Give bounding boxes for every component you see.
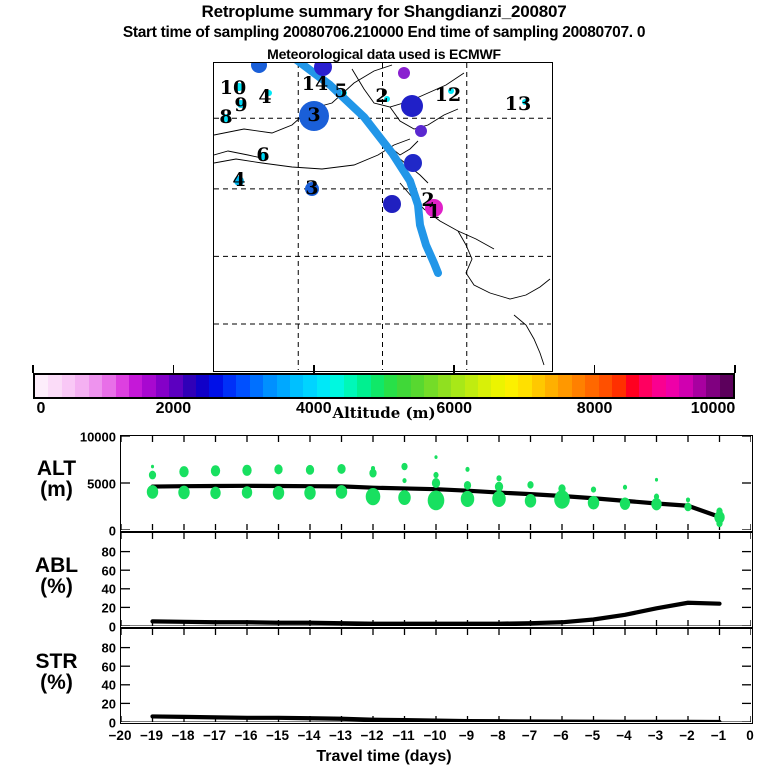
x-tick-label: −11	[392, 728, 414, 743]
x-tick-label: −9	[459, 728, 474, 743]
colorbar-block-36	[518, 375, 531, 397]
colorbar-block-17	[263, 375, 276, 397]
y-tick-label: 60	[102, 659, 116, 674]
colorbar-block-50	[706, 375, 719, 397]
colorbar-block-31	[451, 375, 464, 397]
y-tick-label: 5000	[87, 476, 116, 491]
alt-bubble-31	[527, 481, 533, 488]
alt-bubble-3	[179, 466, 188, 477]
alt-bubble-22	[433, 472, 438, 478]
colorbar-block-28	[411, 375, 424, 397]
alt-bubble-13	[337, 464, 345, 474]
colorbar-block-26	[384, 375, 397, 397]
colorbar-block-25	[371, 375, 384, 397]
x-axis-title: Travel time (days)	[0, 748, 768, 766]
alt-bubble-11	[306, 465, 314, 475]
alt-bubble-27	[461, 491, 475, 507]
y-tick-label: 60	[102, 563, 116, 578]
alt-bubble-6	[210, 487, 220, 499]
colorbar-block-3	[75, 375, 88, 397]
alt-bubble-8	[242, 486, 252, 498]
colorbar-block-13	[209, 375, 222, 397]
colorbar-block-30	[438, 375, 451, 397]
colorbar-block-6	[116, 375, 129, 397]
alt-bubble-23	[432, 478, 440, 488]
map-day-label-4: 6	[256, 144, 269, 166]
y-tick-label: 40	[102, 678, 116, 693]
alt-bubble-38	[620, 497, 630, 509]
x-tick-label: 0	[746, 728, 754, 743]
colorbar-block-22	[330, 375, 343, 397]
x-tick-label: −16	[235, 728, 258, 743]
colorbar-block-45	[639, 375, 652, 397]
page-title: Retroplume summary for Shangdianzi_20080…	[0, 2, 768, 22]
map-marker-4	[401, 95, 423, 117]
colorbar-block-46	[652, 375, 665, 397]
retroplume-map: 1049864331452121321	[213, 62, 553, 372]
colorbar-block-29	[424, 375, 437, 397]
alt-bubble-30	[492, 491, 506, 507]
x-tick-label: −13	[329, 728, 352, 743]
y-tick-label: 20	[102, 696, 116, 711]
alt-bubble-21	[434, 455, 437, 459]
colorbar-tick	[594, 365, 596, 373]
colorbar-block-44	[626, 375, 639, 397]
x-tick-label: −6	[553, 728, 568, 743]
map-day-label-1: 4	[258, 86, 271, 108]
colorbar-block-2	[62, 375, 75, 397]
alt-bubble-20	[398, 490, 410, 505]
x-tick-label: −17	[203, 728, 226, 743]
map-day-label-11: 12	[435, 84, 461, 106]
colorbar-title: Altitude (m)	[0, 404, 768, 422]
colorbar-block-51	[720, 375, 733, 397]
colorbar-block-20	[303, 375, 316, 397]
colorbar-tick	[32, 365, 34, 373]
y-tick-label: 80	[102, 641, 116, 656]
x-tick-label: −10	[424, 728, 447, 743]
alt-bubble-36	[588, 496, 599, 510]
colorbar-block-49	[693, 375, 706, 397]
x-tick-label: −15	[266, 728, 289, 743]
alt-bubble-9	[274, 464, 282, 474]
colorbar-block-4	[89, 375, 102, 397]
alt-bubble-42	[686, 497, 690, 502]
alt-bubble-14	[336, 485, 347, 499]
map-day-label-5: 4	[232, 169, 245, 191]
map-day-label-12: 13	[505, 93, 531, 115]
alt-bubble-35	[591, 486, 596, 492]
y-tick-label: 10000	[80, 429, 116, 444]
alt-bubble-19	[402, 478, 406, 483]
alt-bubble-12	[304, 486, 315, 500]
colorbar-block-18	[277, 375, 290, 397]
alt-bubble-5	[211, 465, 220, 476]
colorbar-ticks	[33, 365, 735, 373]
colorbar-block-38	[545, 375, 558, 397]
colorbar-block-48	[679, 375, 692, 397]
colorbar-block-14	[223, 375, 236, 397]
colorbar-block-37	[532, 375, 545, 397]
str-axis-label: STR (%)	[4, 651, 109, 693]
colorbar-block-40	[572, 375, 585, 397]
colorbar-block-16	[250, 375, 263, 397]
map-day-label-9: 5	[334, 80, 347, 102]
x-tick-label: −18	[172, 728, 195, 743]
str-plot-content	[121, 629, 751, 722]
str-plot-panel	[120, 628, 753, 724]
x-tick-label: −8	[490, 728, 505, 743]
y-tick-label: 0	[109, 523, 116, 538]
map-day-label-14: 1	[427, 201, 440, 223]
alt-bubble-1	[149, 471, 156, 480]
alt-plot-panel	[120, 435, 753, 532]
colorbar-block-21	[317, 375, 330, 397]
abl-axis-label: ABL (%)	[4, 555, 109, 597]
map-coastline	[458, 231, 490, 293]
colorbar-tick	[453, 365, 455, 373]
colorbar-block-10	[169, 375, 182, 397]
alt-bubble-46	[716, 520, 722, 527]
alt-plot-content	[121, 436, 751, 530]
map-coastline	[514, 315, 544, 365]
x-tick-label: −2	[679, 728, 694, 743]
x-tick-label: −3	[648, 728, 663, 743]
meteorological-data-line: Meteorological data used is ECMWF	[0, 46, 768, 62]
str-axis-label-line1: STR	[4, 651, 109, 672]
x-axis-tick-labels: −20−19−18−17−16−15−14−13−12−11−10−9−8−7−…	[120, 728, 753, 746]
map-day-label-8: 14	[302, 73, 328, 95]
colorbar-block-24	[357, 375, 370, 397]
map-content: 1049864331452121321	[214, 63, 551, 370]
colorbar-block-47	[666, 375, 679, 397]
sampling-time-subtitle: Start time of sampling 20080706.210000 E…	[0, 24, 768, 42]
map-day-label-2: 9	[234, 94, 247, 116]
alt-bubble-17	[366, 488, 381, 505]
colorbar-tick	[734, 365, 736, 373]
x-tick-label: −19	[140, 728, 163, 743]
alt-bubble-24	[428, 490, 445, 510]
x-tick-label: −14	[298, 728, 321, 743]
y-tick-label: 20	[102, 600, 116, 615]
alt-bubble-37	[623, 485, 627, 490]
map-marker-7	[383, 195, 401, 213]
alt-bubble-39	[655, 478, 658, 482]
map-marker-6	[404, 154, 422, 172]
x-tick-label: −4	[616, 728, 631, 743]
map-day-label-3: 8	[219, 106, 232, 128]
alt-bubble-4	[178, 486, 189, 500]
colorbar-block-34	[491, 375, 504, 397]
colorbar-block-39	[558, 375, 571, 397]
map-day-label-6: 3	[307, 104, 320, 126]
alt-bubble-43	[684, 503, 691, 512]
abl-plot-panel	[120, 532, 753, 628]
map-coastline	[490, 279, 550, 299]
colorbar-block-43	[612, 375, 625, 397]
alt-bubble-18	[401, 463, 407, 470]
abl-plot-content	[121, 533, 751, 626]
colorbar-block-1	[48, 375, 61, 397]
colorbar-block-7	[129, 375, 142, 397]
map-marker-5	[415, 125, 427, 137]
alt-bubble-0	[151, 465, 154, 469]
alt-bubble-7	[242, 465, 251, 476]
abl-axis-label-line2: (%)	[4, 576, 109, 597]
map-marker-0	[251, 63, 267, 73]
alt-bubble-28	[496, 475, 501, 481]
alt-bubble-29	[495, 482, 503, 492]
alt-bubble-10	[273, 486, 284, 500]
alt-bubble-16	[369, 469, 376, 478]
x-tick-label: −5	[585, 728, 600, 743]
colorbar-block-23	[344, 375, 357, 397]
colorbar-block-41	[585, 375, 598, 397]
colorbar-block-35	[505, 375, 518, 397]
colorbar-block-11	[183, 375, 196, 397]
map-day-label-10: 2	[375, 85, 388, 107]
str-axis-label-line2: (%)	[4, 672, 109, 693]
alt-bubble-25	[465, 467, 469, 472]
alt-bubble-2	[147, 485, 158, 499]
colorbar-block-15	[236, 375, 249, 397]
map-marker-2	[398, 67, 410, 79]
abl-axis-label-line1: ABL	[4, 555, 109, 576]
y-tick-label: 80	[102, 545, 116, 560]
colorbar-block-5	[102, 375, 115, 397]
colorbar-block-0	[35, 375, 48, 397]
alt-bubble-41	[651, 498, 661, 510]
x-tick-label: −1	[711, 728, 726, 743]
alt-bubble-34	[554, 490, 570, 509]
colorbar-block-9	[156, 375, 169, 397]
colorbar-block-8	[142, 375, 155, 397]
colorbar-gradient	[33, 373, 735, 399]
altitude-colorbar: 0200040006000800010000	[33, 373, 735, 399]
colorbar-block-42	[599, 375, 612, 397]
x-tick-label: −12	[361, 728, 384, 743]
map-day-label-7: 3	[305, 177, 318, 199]
colorbar-tick	[313, 365, 315, 373]
colorbar-block-19	[290, 375, 303, 397]
alt-bubble-32	[525, 494, 536, 508]
x-tick-label: −7	[522, 728, 537, 743]
x-tick-label: −20	[109, 728, 132, 743]
colorbar-block-32	[465, 375, 478, 397]
alt-bubble-26	[464, 481, 471, 490]
colorbar-block-12	[196, 375, 209, 397]
colorbar-block-27	[397, 375, 410, 397]
colorbar-block-33	[478, 375, 491, 397]
colorbar-tick	[173, 365, 175, 373]
y-tick-label: 40	[102, 582, 116, 597]
y-tick-label: 0	[109, 619, 116, 634]
